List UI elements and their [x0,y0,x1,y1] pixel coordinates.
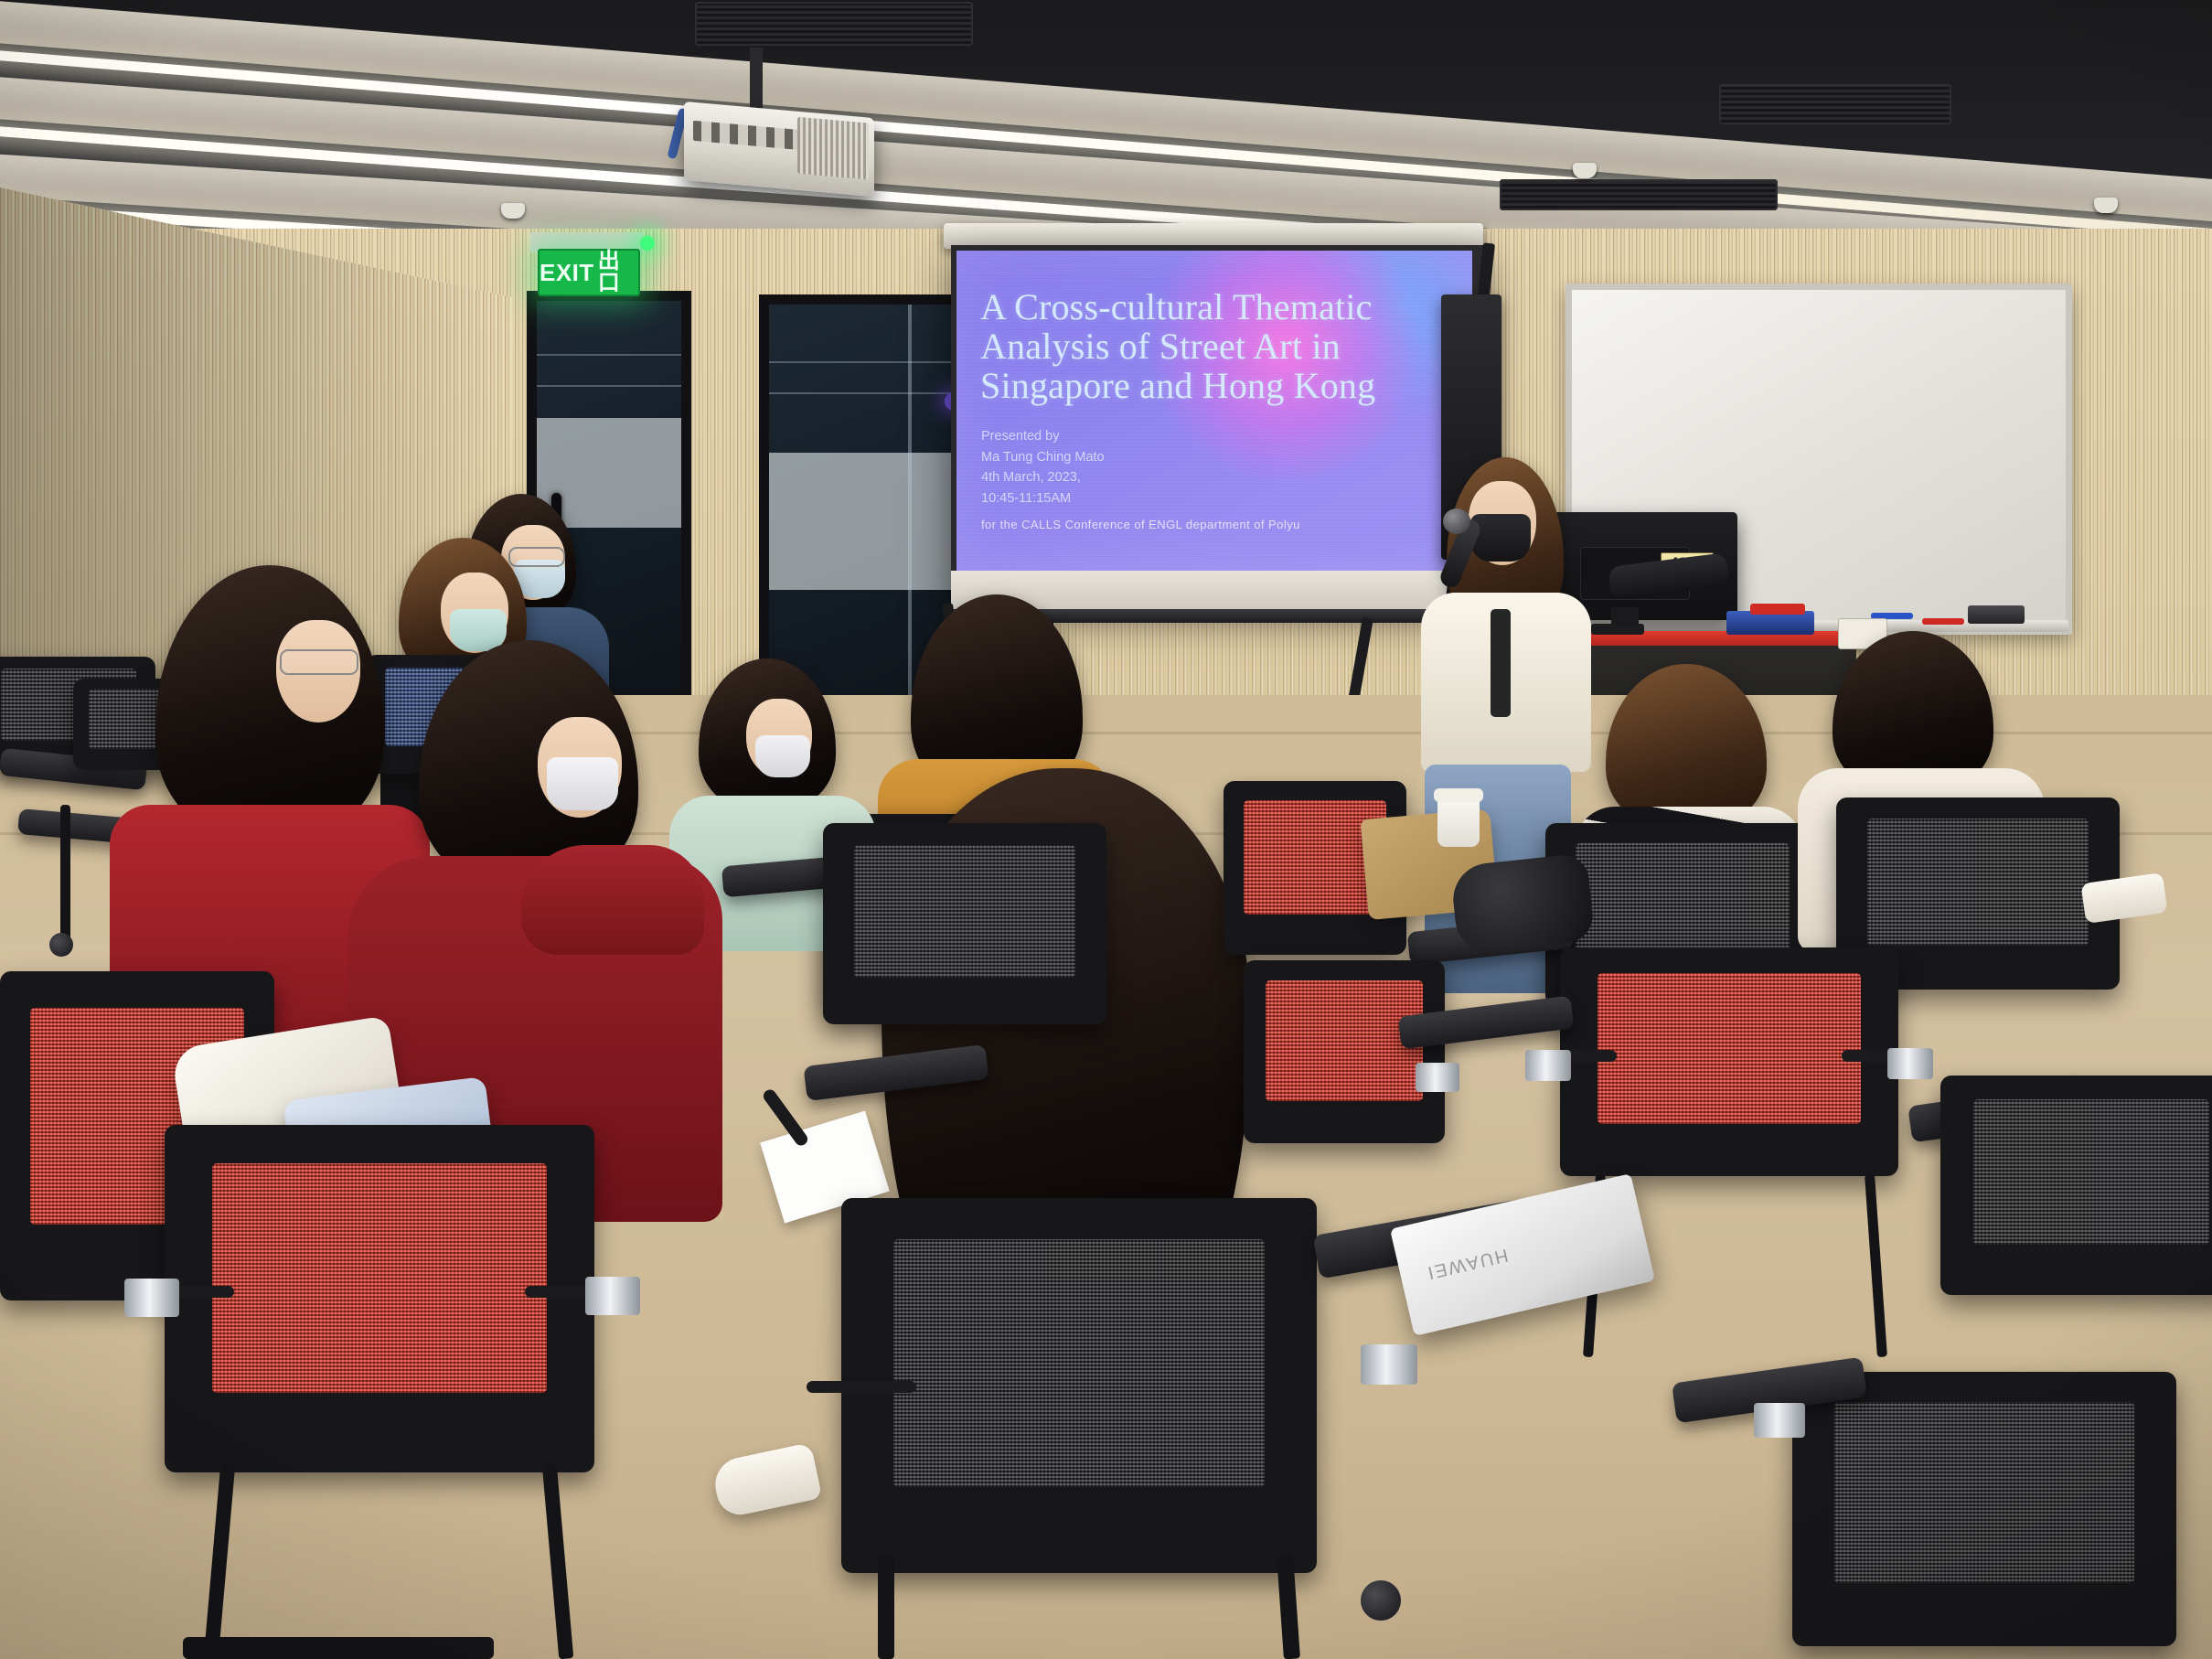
slide-title: A Cross-cultural Thematic Analysis of St… [980,287,1447,406]
chair-armrest [807,1381,916,1393]
sprinkler-head [1573,163,1597,178]
laptop-brand-label: HUAWEI [1424,1244,1510,1283]
chair-mesh-panel [1266,980,1423,1101]
emergency-light [640,236,655,251]
chair-hinge [1416,1063,1459,1092]
slide-footer: for the CALLS Conference of ENGL departm… [981,518,1300,531]
sprinkler-head [501,203,525,219]
chair-mesh-panel [1834,1402,2134,1583]
chair-hinge [1887,1048,1933,1079]
chair-foreground-red[interactable] [165,1125,594,1472]
glass-reflection-line [537,354,681,356]
exit-sign-label-en: EXIT [540,261,594,284]
slide-date: 4th March, 2023, [981,467,1105,488]
chair-midrow-red[interactable] [1244,960,1445,1143]
presentation-slide: A Cross-cultural Thematic Analysis of St… [956,251,1472,571]
eyeglasses [280,649,358,675]
chair-foreground-black[interactable] [1792,1372,2176,1646]
chair-mesh-panel [212,1163,548,1393]
whiteboard-eraser[interactable] [1968,605,2025,624]
chair-hinge [124,1279,179,1317]
slide-title-line-2: Analysis of Street Art in [980,326,1447,366]
chair-mesh-panel [893,1239,1265,1487]
ceiling-projector [684,102,874,197]
microphone-head [1443,508,1470,534]
slide-title-line-3: Singapore and Hong Kong [980,366,1447,405]
coffee-cup [1437,796,1480,847]
chair-mesh-panel [1598,973,1862,1124]
presenter-face-mask [1470,514,1531,562]
chair-foreground-center-black[interactable] [841,1198,1317,1573]
chair-support-post [60,805,70,951]
presenter-collar-trim [1491,609,1511,717]
puffer-jacket [1449,852,1595,954]
projector-grille [797,117,869,180]
red-marker[interactable] [1922,618,1964,625]
ceiling-vent [695,2,973,46]
face-mask [755,735,810,777]
chair-empty-red[interactable] [1560,947,1898,1176]
remote-control[interactable] [1591,624,1644,635]
slide-presented-by-label: Presented by [981,426,1105,447]
lecture-room-scene: EXIT 出口 A Cross-cultural Thematic Analys… [0,0,2212,1659]
chair-empty-black[interactable] [1940,1076,2212,1295]
audience-member-maroon-hoodie [393,640,704,1097]
ceiling-vent [1719,84,1951,124]
chair-mesh-panel [1973,1099,2208,1244]
exit-sign: EXIT 出口 [538,249,640,296]
hoodie-hood [521,845,704,955]
slide-title-line-1: A Cross-cultural Thematic [980,287,1447,326]
chair-mesh-panel [1867,819,2089,946]
chair-support-post [878,1555,894,1659]
face-mask [547,757,618,810]
chair-caster [1361,1580,1401,1621]
coffee-cup-lid [1434,788,1483,802]
chair-mesh-panel [854,845,1075,978]
chair-caster [49,933,73,957]
slide-metadata: Presented by Ma Tung Ching Mato 4th Marc… [981,426,1105,508]
chair-hinge [585,1277,640,1315]
chair-midrow-black[interactable] [823,823,1106,1024]
av-status-strip [1750,604,1805,615]
chair-base-rail [183,1637,494,1659]
slide-presenter-name: Ma Tung Ching Mato [981,447,1105,468]
exit-sign-label-cjk: 出口 [598,251,638,294]
slide-time: 10:45-11:15AM [981,488,1105,509]
chair-hinge [1754,1403,1805,1438]
chair-mesh-panel [1576,843,1790,964]
chair-hinge [1361,1344,1417,1385]
projector-mount [750,48,763,113]
glass-reflection-line [537,385,681,387]
projector-ports [693,121,803,150]
sprinkler-head [2094,198,2118,213]
hair [1606,664,1767,829]
chair-hinge [1525,1050,1571,1081]
ceiling-vent [1500,179,1778,210]
